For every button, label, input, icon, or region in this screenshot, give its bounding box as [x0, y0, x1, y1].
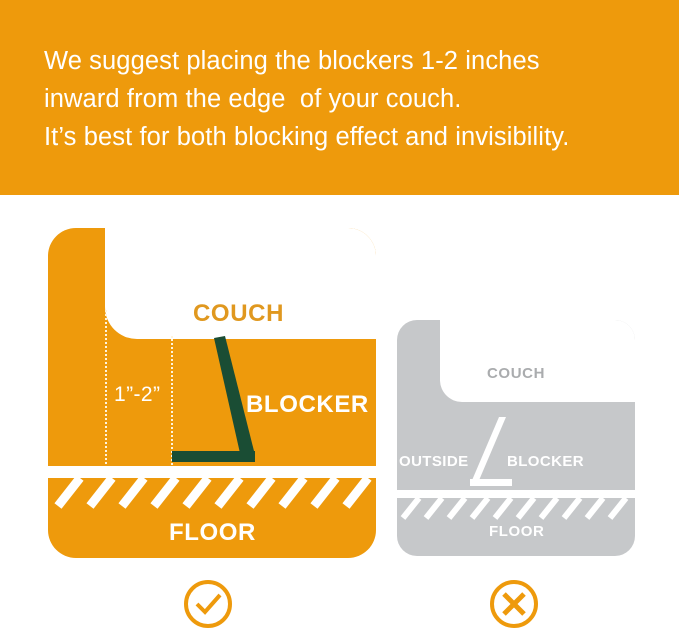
couch-label-correct: COUCH: [193, 300, 284, 328]
cross-circle-icon: [488, 578, 540, 630]
instruction-graphic: We suggest placing the blockers 1-2 inch…: [0, 0, 679, 640]
banner-line-3: It’s best for both blocking effect and i…: [44, 118, 654, 156]
measure-label: 1”-2”: [114, 383, 160, 407]
instruction-banner: We suggest placing the blockers 1-2 inch…: [0, 0, 679, 195]
couch-shape-incorrect: [440, 320, 635, 402]
couch-label-incorrect: COUCH: [487, 365, 545, 382]
banner-line-1: We suggest placing the blockers 1-2 inch…: [44, 42, 654, 80]
diagram-card-correct: COUCH 1”-2” BLOCKER: [48, 228, 376, 558]
diagram-card-incorrect: COUCH OUTSIDE BLOCKER FLOOR: [397, 320, 635, 556]
outside-label: OUTSIDE: [399, 453, 468, 470]
measure-guide-line-left: [105, 310, 107, 468]
floor-label-incorrect: FLOOR: [489, 523, 545, 540]
blocker-label-correct: BLOCKER: [246, 391, 369, 419]
banner-line-2: inward from the edge of your couch.: [44, 80, 654, 118]
floor-hatching-incorrect: [397, 496, 635, 526]
check-circle-icon: [182, 578, 234, 630]
banner-text-block: We suggest placing the blockers 1-2 inch…: [44, 42, 654, 156]
floor-hatching-correct: [48, 476, 376, 516]
floor-label-correct: FLOOR: [169, 519, 256, 547]
measure-guide-line-right: [171, 336, 173, 468]
blocker-label-incorrect: BLOCKER: [507, 453, 584, 470]
